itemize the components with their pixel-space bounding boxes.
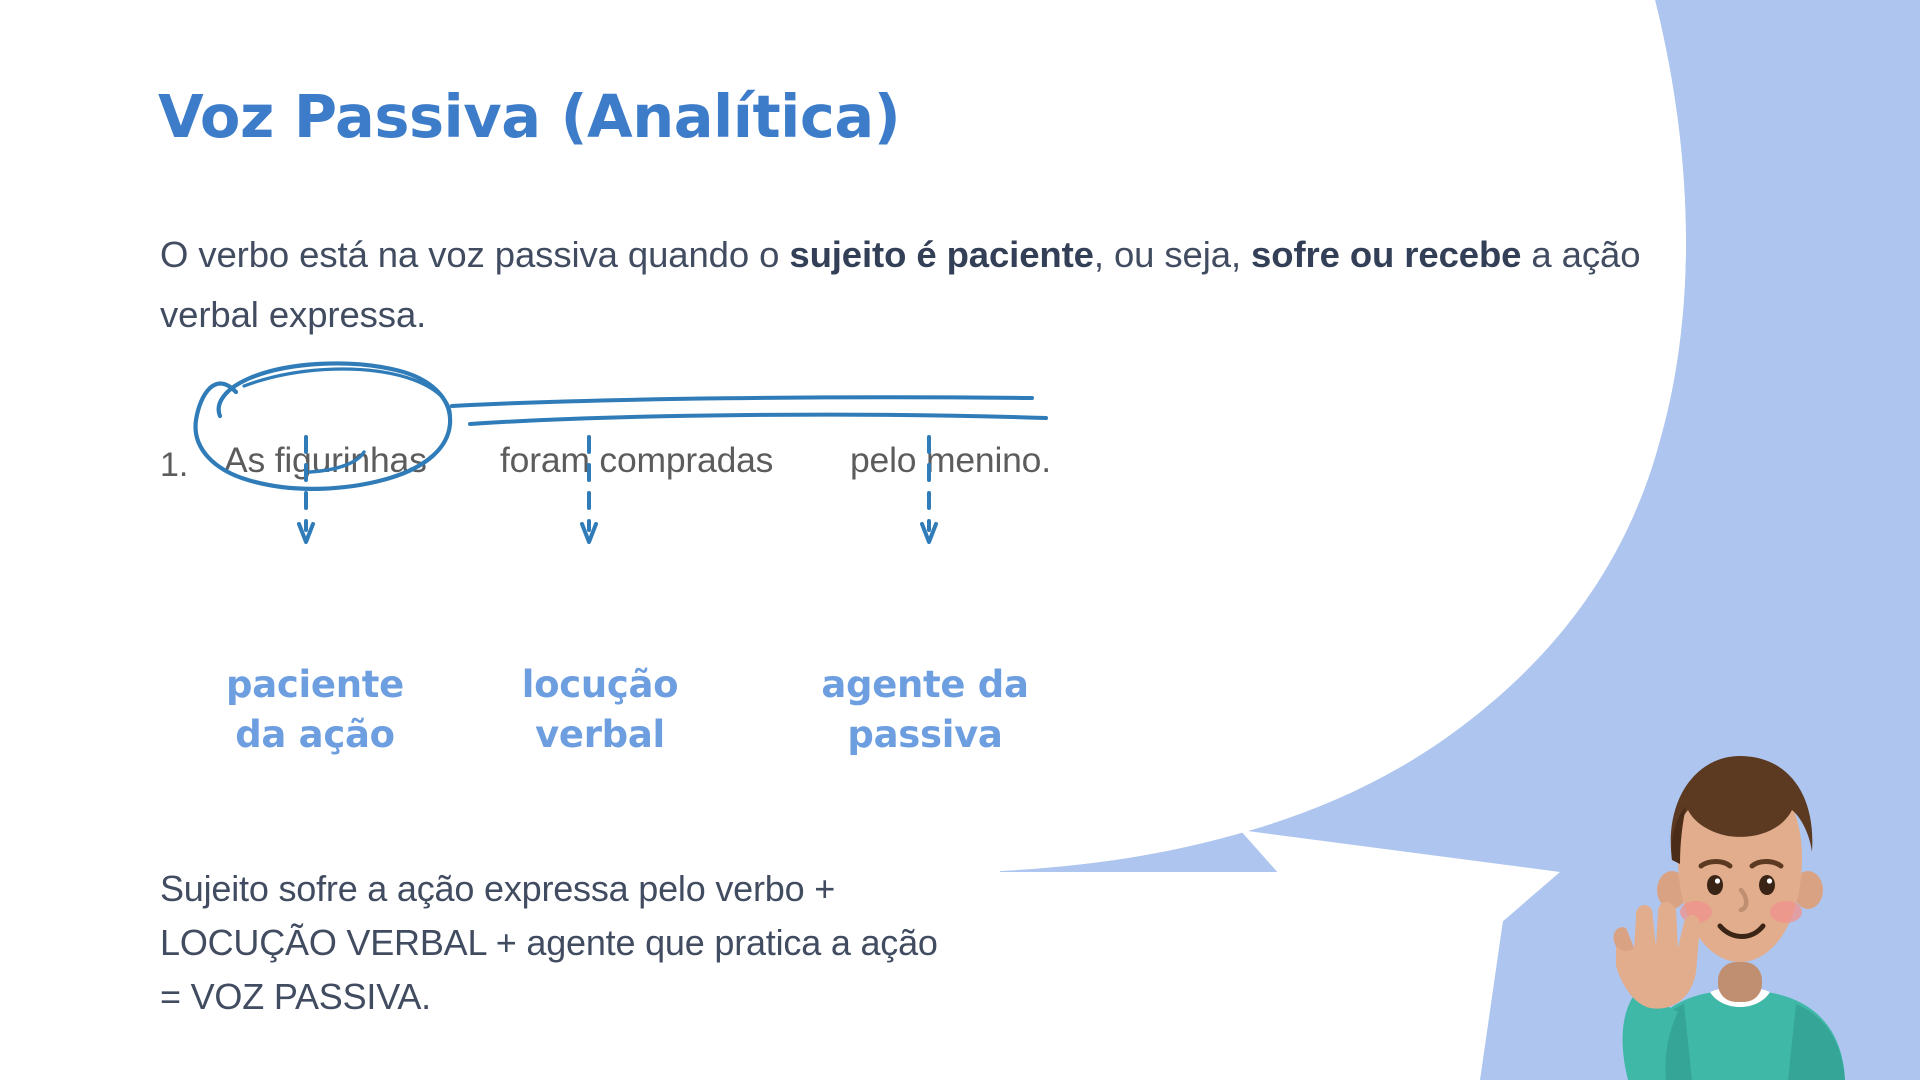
summary-line-3: = VOZ PASSIVA. <box>160 970 1360 1024</box>
label-paciente-line2: da ação <box>215 710 415 760</box>
definition-bold-1: sujeito é paciente <box>789 234 1094 275</box>
label-locucao: locução verbal <box>500 660 700 760</box>
label-agente-line1: agente da <box>795 660 1055 710</box>
example-verb-phrase: foram compradas <box>500 440 773 481</box>
slide-canvas: Voz Passiva (Analítica) O verbo está na … <box>0 0 1920 1080</box>
waving-boy-illustration <box>1560 740 1920 1080</box>
label-paciente: paciente da ação <box>215 660 415 760</box>
definition-text-1: O verbo está na voz passiva quando o <box>160 234 789 275</box>
label-paciente-line1: paciente <box>215 660 415 710</box>
summary-line-2: LOCUÇÃO VERBAL + agente que pratica a aç… <box>160 916 1360 970</box>
label-locucao-line1: locução <box>500 660 700 710</box>
label-locucao-line2: verbal <box>500 710 700 760</box>
slide-content: Voz Passiva (Analítica) O verbo está na … <box>0 0 1700 1080</box>
example-subject: As figurinhas <box>224 440 427 481</box>
label-agente-line2: passiva <box>795 710 1055 760</box>
label-agente: agente da passiva <box>795 660 1055 760</box>
definition-bold-2: sofre ou recebe <box>1251 234 1521 275</box>
example-agent: pelo menino. <box>850 440 1051 481</box>
definition-paragraph: O verbo está na voz passiva quando o suj… <box>160 225 1680 345</box>
double-underline-verb <box>452 397 1046 424</box>
example-sentence: 1. As figurinhas foram compradas pelo me… <box>160 440 1560 500</box>
definition-text-2: , ou seja, <box>1094 234 1251 275</box>
summary-paragraph: Sujeito sofre a ação expressa pelo verbo… <box>160 862 1360 1024</box>
page-title: Voz Passiva (Analítica) <box>158 82 900 151</box>
example-number: 1. <box>160 446 188 485</box>
summary-line-1: Sujeito sofre a ação expressa pelo verbo… <box>160 862 1360 916</box>
